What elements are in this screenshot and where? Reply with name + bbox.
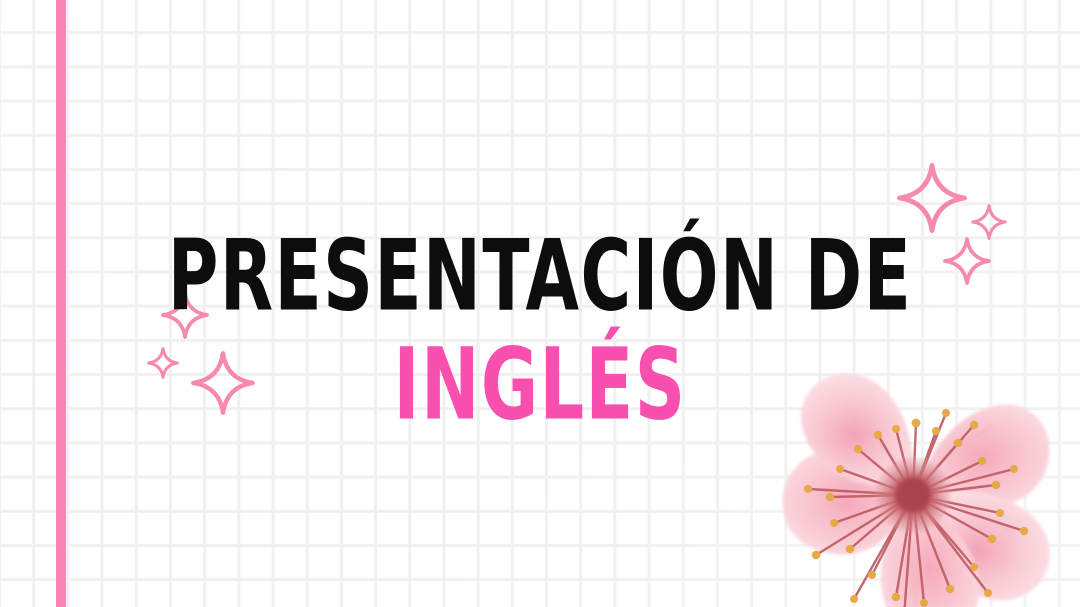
sparkle-right-small-icon [972,205,1006,239]
sparkle-left-top-icon [162,292,208,338]
sparkle-right-large-icon [898,164,966,232]
pink-margin-line [56,0,66,607]
sparkle-right-mid-icon [944,238,990,284]
sparkle-left-small-icon [148,348,178,378]
sparkle-left-large-icon [192,352,254,414]
title-slide: PRESENTACIÓN DE INGLÉS [0,0,1080,607]
